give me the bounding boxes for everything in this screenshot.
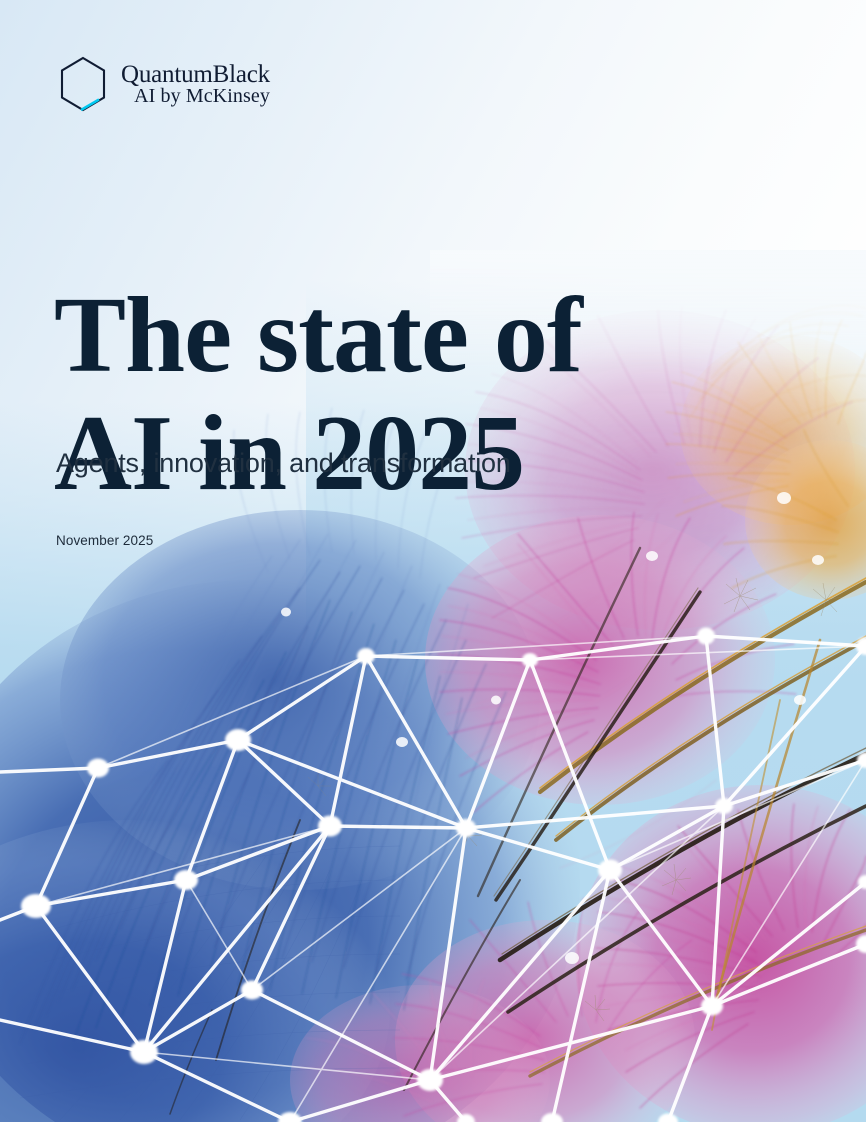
- page-subtitle: Agents, innovation, and transformation: [56, 447, 511, 479]
- brand-wordmark: QuantumBlack AI by McKinsey: [121, 62, 270, 107]
- page-title-line-1: The state of: [54, 277, 694, 395]
- cover-artwork: [0, 0, 866, 1122]
- network-edges: [0, 636, 866, 1122]
- hexagon-logo-icon: [57, 55, 109, 113]
- fibrous-network-illustration: [0, 0, 866, 1122]
- brand-tagline: AI by McKinsey: [134, 86, 270, 106]
- brand-name: QuantumBlack: [121, 62, 270, 88]
- publication-date: November 2025: [56, 533, 153, 548]
- document-cover: QuantumBlack AI by McKinsey The state of…: [0, 0, 866, 1122]
- brand-logo: QuantumBlack AI by McKinsey: [57, 55, 270, 113]
- network-nodes: [21, 628, 866, 1122]
